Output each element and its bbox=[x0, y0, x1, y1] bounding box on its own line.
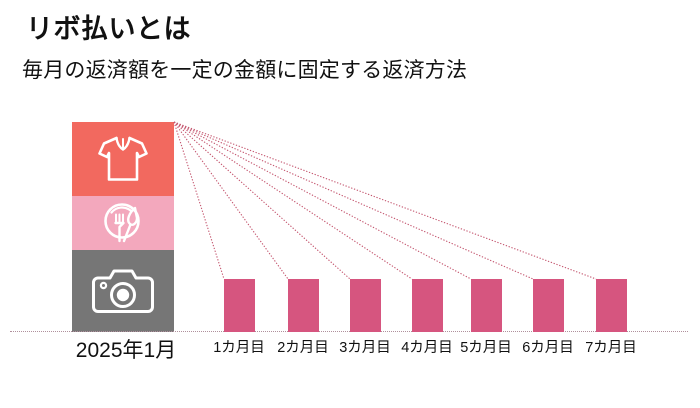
bar-label-month-5: 5カ月目 bbox=[460, 341, 512, 356]
bar-month-7 bbox=[596, 279, 627, 332]
bar-label-month-7: 7カ月目 bbox=[585, 341, 637, 356]
bar-month-5 bbox=[471, 279, 502, 332]
bar-label-month-6: 6カ月目 bbox=[522, 341, 574, 356]
bar-month-2 bbox=[288, 279, 319, 332]
bar-month-1 bbox=[224, 279, 255, 332]
bar-label-month-1: 1カ月目 bbox=[213, 341, 265, 356]
slide-canvas: リボ払いとは 毎月の返済額を一定の金額に固定する返済方法 bbox=[0, 0, 700, 408]
bar-label-month-2: 2カ月目 bbox=[277, 341, 329, 356]
bar-label-month-3: 3カ月目 bbox=[339, 341, 391, 356]
bar-month-4 bbox=[412, 279, 443, 332]
bar-month-3 bbox=[350, 279, 381, 332]
bar-label-month-4: 4カ月目 bbox=[401, 341, 453, 356]
bar-month-6 bbox=[533, 279, 564, 332]
bar-series: 1カ月目2カ月目3カ月目4カ月目5カ月目6カ月目7カ月目 bbox=[0, 0, 700, 408]
